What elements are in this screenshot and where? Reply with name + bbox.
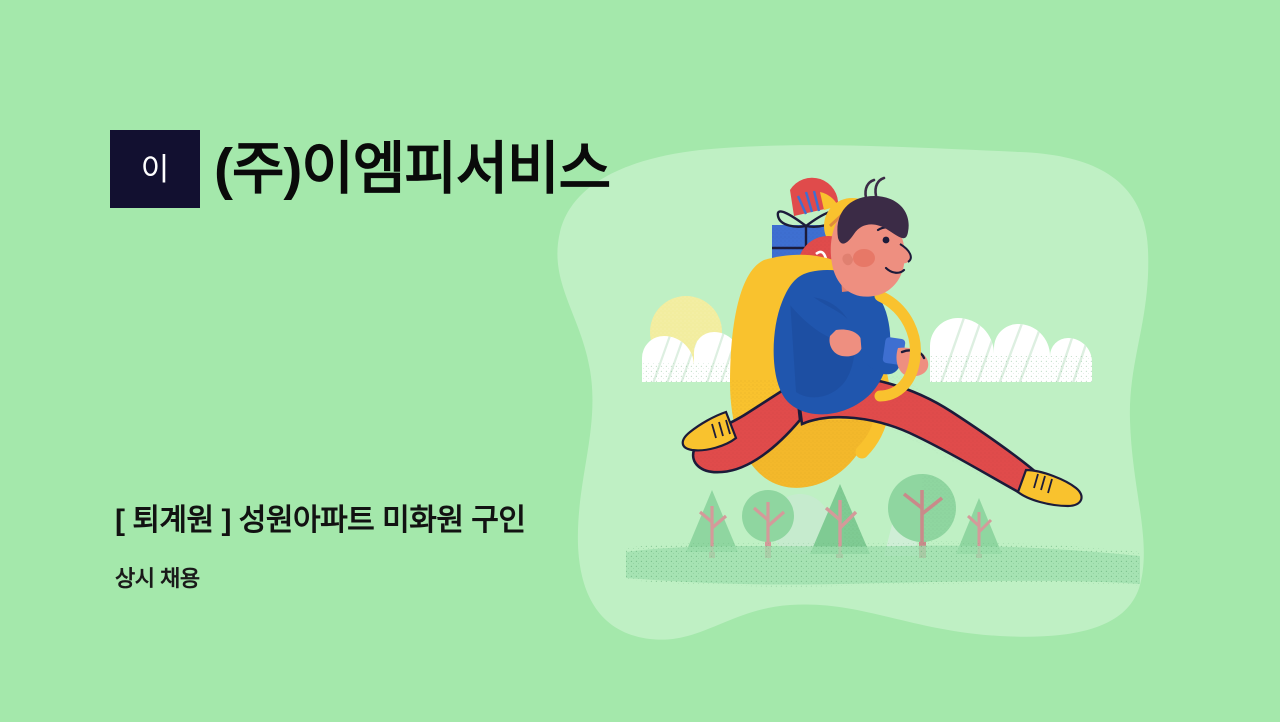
job-posting-poster: 이 (주)이엠피서비스 [ 퇴계원 ] 성원아파트 미화원 구인 상시 채용	[0, 0, 1280, 722]
job-info: [ 퇴계원 ] 성원아파트 미화원 구인 상시 채용	[115, 502, 525, 592]
shoe-right-icon	[1018, 470, 1082, 506]
illustration-running-delivery-man	[0, 0, 1280, 722]
job-status-badge: 상시 채용	[115, 566, 525, 592]
company-logo-badge: 이	[110, 130, 200, 208]
company-name: (주)이엠피서비스	[214, 141, 610, 198]
job-title: [ 퇴계원 ] 성원아파트 미화원 구인	[115, 502, 525, 540]
company-header: 이 (주)이엠피서비스	[110, 130, 610, 208]
cloud-right-icon	[924, 312, 1104, 392]
ground-texture	[620, 540, 1150, 590]
company-logo-text: 이	[141, 154, 170, 185]
